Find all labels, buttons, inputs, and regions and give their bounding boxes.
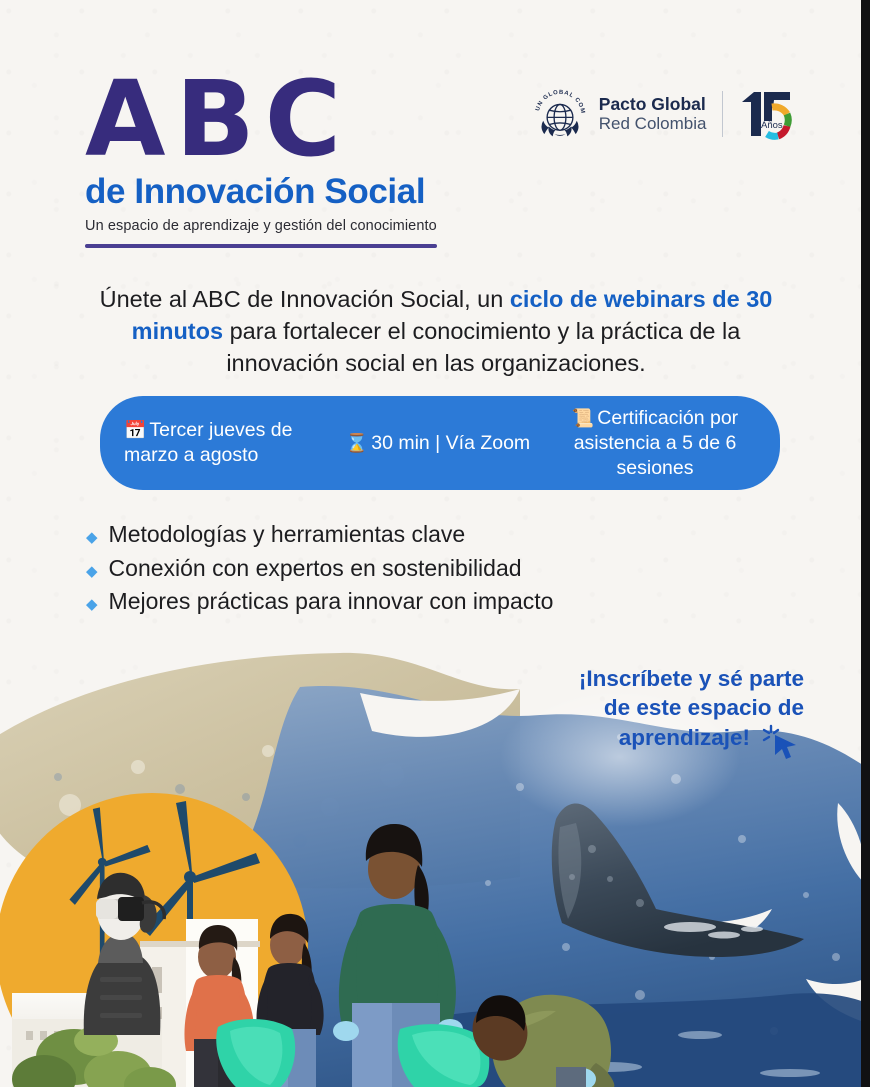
fact-schedule: 📅Tercer jueves de marzo a agosto: [118, 418, 332, 468]
fact-certification-text: Certificación por asistencia a 5 de 6 se…: [574, 407, 738, 479]
intro-part2: para fortalecer el conocimiento y la prá…: [223, 318, 740, 376]
fact-duration: ⌛30 min | Vía Zoom: [333, 431, 543, 456]
benefit-text: Conexión con expertos en sostenibilidad: [109, 552, 522, 585]
diamond-bullet-icon: ◆: [86, 597, 98, 612]
cta-line2: de este espacio de: [542, 693, 804, 722]
click-cursor-icon: [762, 722, 802, 762]
scroll-icon: 📜: [572, 408, 594, 428]
partner-logo: UN GLOBAL COMPACT Pacto Global Red Colom…: [532, 86, 800, 142]
facts-band: 📅Tercer jueves de marzo a agosto ⌛30 min…: [100, 396, 780, 490]
benefit-text: Metodologías y herramientas clave: [109, 518, 466, 551]
intro-part1: Únete al ABC de Innovación Social, un: [100, 286, 510, 312]
anniversary-label-text: Años: [761, 120, 783, 131]
partner-name-line2: Red Colombia: [599, 114, 707, 134]
call-to-action[interactable]: ¡Inscríbete y sé parte de este espacio d…: [542, 664, 804, 752]
svg-text:UN GLOBAL COMPACT: UN GLOBAL COMPACT: [532, 86, 585, 115]
fact-duration-text: 30 min | Vía Zoom: [371, 432, 530, 454]
trash-bag-illustration: [216, 1019, 295, 1087]
un-global-compact-emblem-icon: UN GLOBAL COMPACT: [532, 86, 588, 142]
list-item: ◆ Metodologías y herramientas clave: [86, 518, 553, 551]
list-item: ◆ Conexión con expertos en sostenibilida…: [86, 552, 553, 585]
right-edge-strip: [861, 0, 870, 1087]
benefits-list: ◆ Metodologías y herramientas clave ◆ Co…: [86, 518, 553, 619]
cta-line1: ¡Inscríbete y sé parte: [542, 664, 804, 693]
brand-block: ABC de Innovación Social Un espacio de a…: [85, 72, 437, 248]
intro-paragraph: Únete al ABC de Innovación Social, un ci…: [78, 283, 794, 380]
fact-schedule-text: Tercer jueves de marzo a agosto: [124, 419, 293, 466]
partner-name: Pacto Global Red Colombia: [599, 94, 707, 134]
brand-subtitle: de Innovación Social: [85, 174, 437, 209]
diamond-bullet-icon: ◆: [86, 564, 98, 579]
hourglass-icon: ⌛: [346, 433, 368, 453]
anniversary-icon: Años: [738, 88, 800, 140]
page-title: ABC: [85, 72, 437, 168]
anniversary-15-years-mark: Años: [738, 88, 800, 140]
fact-certification: 📜Certificación por asistencia a 5 de 6 s…: [544, 406, 766, 480]
poster-canvas: ABC de Innovación Social Un espacio de a…: [0, 0, 870, 1087]
logo-divider: [722, 91, 724, 137]
partner-name-line1: Pacto Global: [599, 94, 707, 114]
brand-tagline: Un espacio de aprendizaje y gestión del …: [85, 218, 437, 234]
brand-divider: [85, 244, 437, 248]
list-item: ◆ Mejores prácticas para innovar con imp…: [86, 585, 553, 618]
diamond-bullet-icon: ◆: [86, 530, 98, 545]
benefit-text: Mejores prácticas para innovar con impac…: [109, 585, 554, 618]
calendar-icon: 📅: [124, 420, 146, 440]
